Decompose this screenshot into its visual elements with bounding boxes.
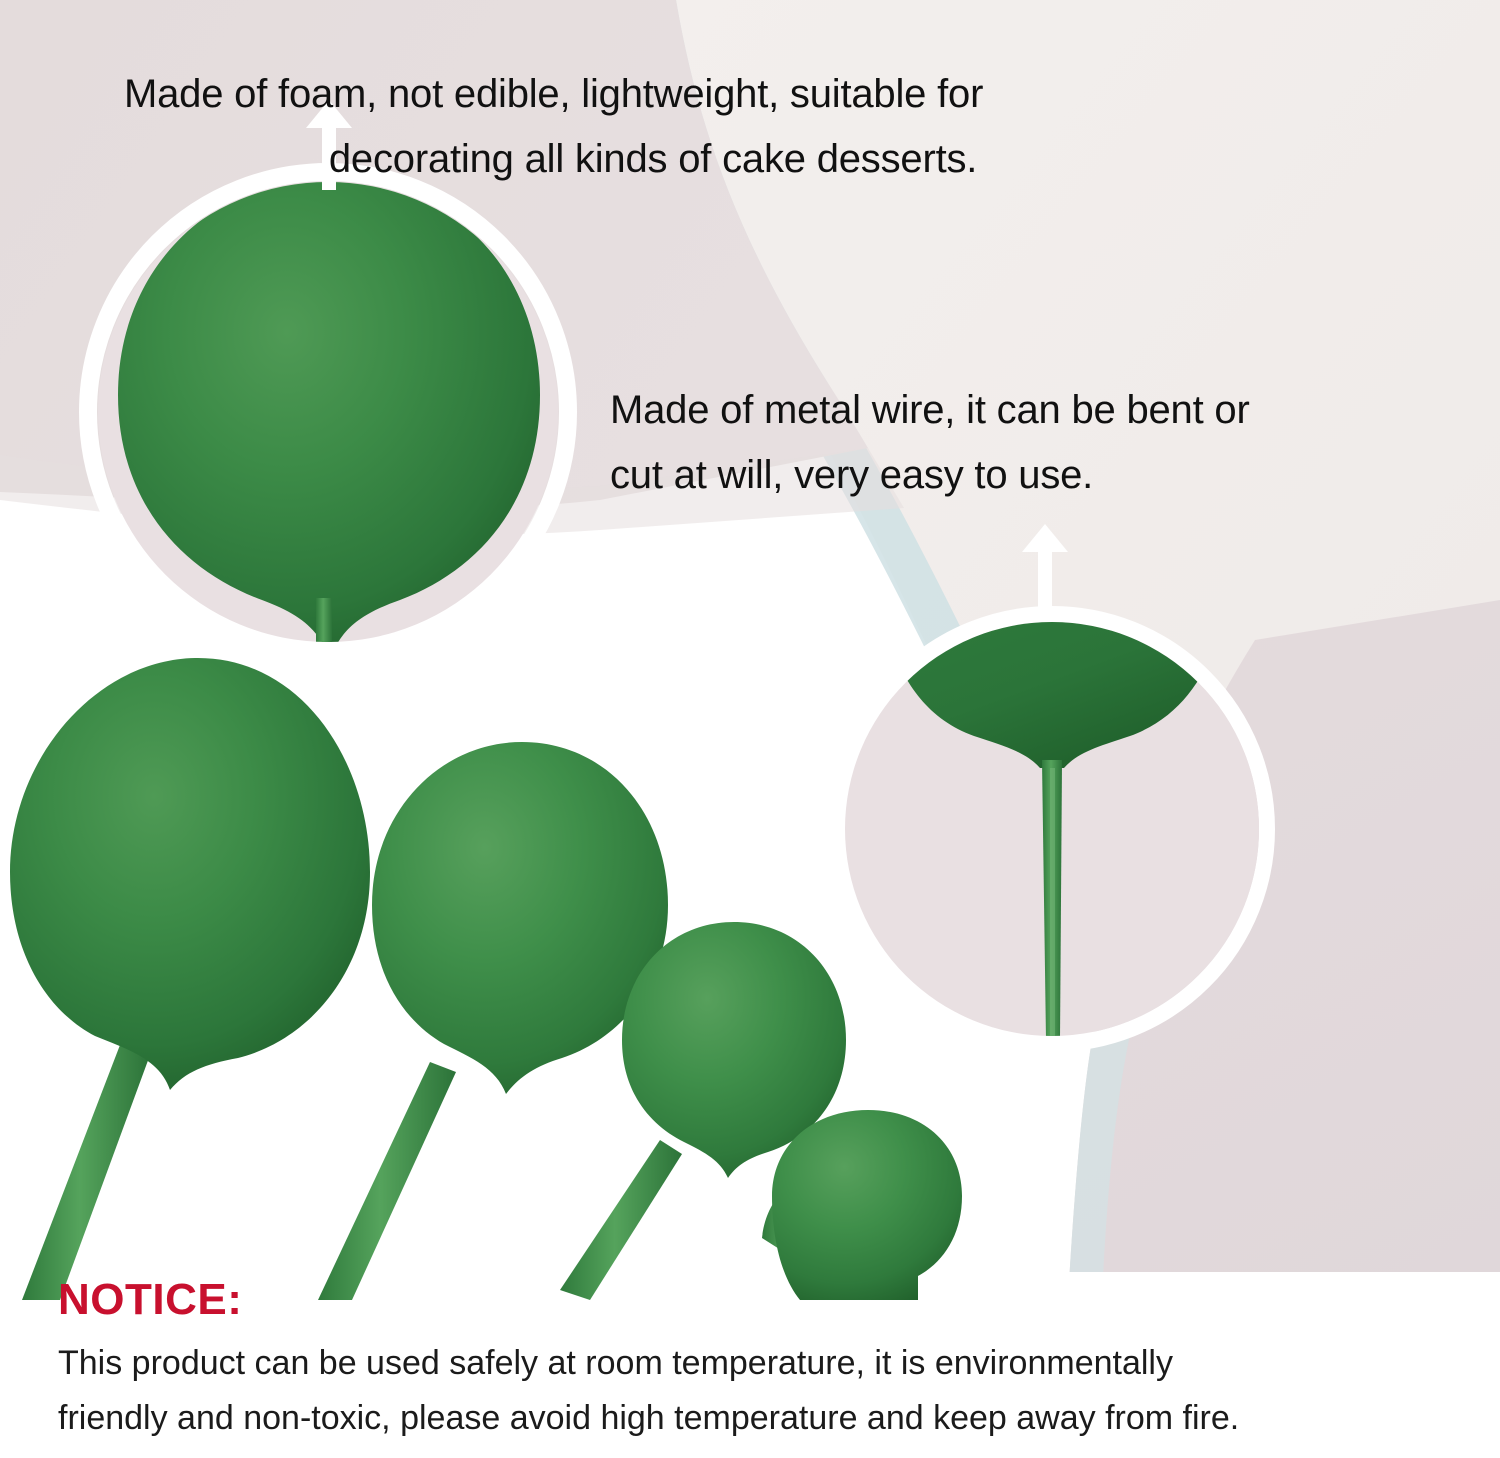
callout-wire-line2: cut at will, very easy to use. [610, 443, 1250, 508]
callout-foam-line1: Made of foam, not edible, lightweight, s… [124, 72, 983, 116]
callout-wire-line1: Made of metal wire, it can be bent or [610, 388, 1250, 432]
callout-foam: Made of foam, not edible, lightweight, s… [124, 62, 983, 192]
notice-line-1: This product can be used safely at room … [58, 1336, 1458, 1391]
product-infographic: Made of foam, not edible, lightweight, s… [0, 0, 1500, 1458]
magnifier-metal-wire [0, 0, 1500, 1458]
arrow-up-icon-right [1022, 524, 1068, 614]
callout-wire: Made of metal wire, it can be bent or cu… [610, 378, 1250, 508]
notice-title: NOTICE: [58, 1278, 1458, 1322]
notice-line-2: friendly and non-toxic, please avoid hig… [58, 1391, 1458, 1446]
notice-block: NOTICE: This product can be used safely … [58, 1278, 1458, 1446]
callout-foam-line2: decorating all kinds of cake desserts. [124, 127, 983, 192]
